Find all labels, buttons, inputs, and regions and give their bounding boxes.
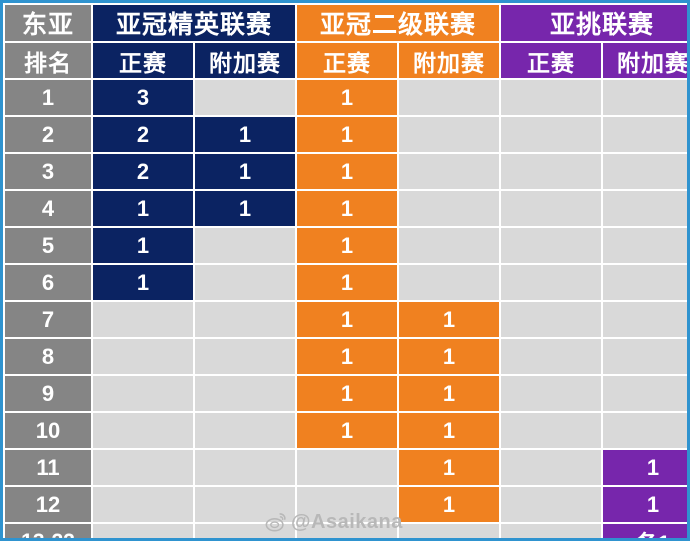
empty-cell xyxy=(399,117,499,152)
rank-cell: 12 xyxy=(5,487,91,522)
empty-cell xyxy=(297,487,397,522)
table-row: 3211 xyxy=(5,154,690,189)
subheader-elite-main: 正赛 xyxy=(93,43,193,78)
table-row: 911 xyxy=(5,376,690,411)
region-label: 东亚 xyxy=(5,5,91,41)
empty-cell xyxy=(93,413,193,448)
empty-cell xyxy=(501,524,601,541)
slot-value-cell: 1 xyxy=(603,450,690,485)
slot-value-cell: 2 xyxy=(93,117,193,152)
slot-allocation-table-frame: 东亚 亚冠精英联赛 亚冠二级联赛 亚挑联赛 排名 正赛 附加赛 正赛 附加赛 正… xyxy=(0,0,690,541)
rank-cell: 8 xyxy=(5,339,91,374)
empty-cell xyxy=(603,228,690,263)
slot-value-cell: 1 xyxy=(399,487,499,522)
slot-value-cell: 1 xyxy=(297,228,397,263)
table-row: 811 xyxy=(5,339,690,374)
slot-value-cell: 1 xyxy=(399,376,499,411)
slot-value-cell: 1 xyxy=(297,117,397,152)
slot-value-cell: 1 xyxy=(93,265,193,300)
empty-cell xyxy=(501,413,601,448)
table-row: 1011 xyxy=(5,413,690,448)
subheader-two-playoff: 附加赛 xyxy=(399,43,499,78)
empty-cell xyxy=(195,450,295,485)
subcolumn-header-row: 排名 正赛 附加赛 正赛 附加赛 正赛 附加赛 xyxy=(5,43,690,78)
empty-cell xyxy=(399,524,499,541)
subheader-challenge-playoff: 附加赛 xyxy=(603,43,690,78)
slot-value-cell: 1 xyxy=(603,487,690,522)
empty-cell xyxy=(603,413,690,448)
rank-cell: 9 xyxy=(5,376,91,411)
rank-cell: 4 xyxy=(5,191,91,226)
table-row: 511 xyxy=(5,228,690,263)
empty-cell xyxy=(195,487,295,522)
slot-value-cell: 1 xyxy=(399,302,499,337)
slot-value-cell: 1 xyxy=(297,265,397,300)
subheader-elite-playoff: 附加赛 xyxy=(195,43,295,78)
subheader-challenge-main: 正赛 xyxy=(501,43,601,78)
rank-cell: 7 xyxy=(5,302,91,337)
slot-value-cell: 1 xyxy=(297,80,397,115)
slot-value-cell: 1 xyxy=(297,302,397,337)
empty-cell xyxy=(501,154,601,189)
table-row: 711 xyxy=(5,302,690,337)
empty-cell xyxy=(399,191,499,226)
competition-title-two: 亚冠二级联赛 xyxy=(297,5,499,41)
empty-cell xyxy=(603,302,690,337)
empty-cell xyxy=(501,339,601,374)
empty-cell xyxy=(603,265,690,300)
empty-cell xyxy=(93,487,193,522)
rank-cell: 3 xyxy=(5,154,91,189)
rank-cell: 1 xyxy=(5,80,91,115)
empty-cell xyxy=(195,376,295,411)
slot-value-cell: 1 xyxy=(195,117,295,152)
rank-cell: 13-22 xyxy=(5,524,91,541)
empty-cell xyxy=(501,228,601,263)
empty-cell xyxy=(603,376,690,411)
empty-cell xyxy=(195,80,295,115)
slot-value-cell: 1 xyxy=(399,339,499,374)
rank-cell: 10 xyxy=(5,413,91,448)
empty-cell xyxy=(195,265,295,300)
empty-cell xyxy=(195,524,295,541)
slot-value-cell: 1 xyxy=(297,154,397,189)
slot-value-cell: 1 xyxy=(399,450,499,485)
rank-header: 排名 xyxy=(5,43,91,78)
empty-cell xyxy=(93,524,193,541)
subheader-two-main: 正赛 xyxy=(297,43,397,78)
empty-cell xyxy=(399,228,499,263)
table-row: 4111 xyxy=(5,191,690,226)
slot-value-cell: 1 xyxy=(93,228,193,263)
slot-value-cell: 3 xyxy=(93,80,193,115)
rank-cell: 11 xyxy=(5,450,91,485)
empty-cell xyxy=(195,228,295,263)
competition-title-elite: 亚冠精英联赛 xyxy=(93,5,295,41)
slot-value-cell: 1 xyxy=(297,376,397,411)
empty-cell xyxy=(399,80,499,115)
empty-cell xyxy=(501,302,601,337)
empty-cell xyxy=(93,339,193,374)
empty-cell xyxy=(93,302,193,337)
empty-cell xyxy=(297,524,397,541)
empty-cell xyxy=(501,191,601,226)
empty-cell xyxy=(195,413,295,448)
slot-value-cell: 1 xyxy=(399,413,499,448)
empty-cell xyxy=(195,302,295,337)
empty-cell xyxy=(399,154,499,189)
empty-cell xyxy=(501,117,601,152)
slot-value-cell: 1 xyxy=(297,191,397,226)
empty-cell xyxy=(501,376,601,411)
table-row: 1211 xyxy=(5,487,690,522)
table-row: 13-22各1 xyxy=(5,524,690,541)
empty-cell xyxy=(93,450,193,485)
slot-value-cell: 1 xyxy=(297,339,397,374)
empty-cell xyxy=(399,265,499,300)
rank-cell: 6 xyxy=(5,265,91,300)
competition-title-row: 东亚 亚冠精英联赛 亚冠二级联赛 亚挑联赛 xyxy=(5,5,690,41)
slot-allocation-table: 东亚 亚冠精英联赛 亚冠二级联赛 亚挑联赛 排名 正赛 附加赛 正赛 附加赛 正… xyxy=(3,3,690,541)
empty-cell xyxy=(603,154,690,189)
table-row: 611 xyxy=(5,265,690,300)
empty-cell xyxy=(501,487,601,522)
slot-value-cell: 1 xyxy=(297,413,397,448)
rank-cell: 2 xyxy=(5,117,91,152)
empty-cell xyxy=(195,339,295,374)
empty-cell xyxy=(603,117,690,152)
competition-title-challenge: 亚挑联赛 xyxy=(501,5,690,41)
empty-cell xyxy=(501,450,601,485)
table-row: 1111 xyxy=(5,450,690,485)
slot-value-cell: 1 xyxy=(195,154,295,189)
table-body: 东亚 亚冠精英联赛 亚冠二级联赛 亚挑联赛 排名 正赛 附加赛 正赛 附加赛 正… xyxy=(5,5,690,541)
table-row: 2211 xyxy=(5,117,690,152)
empty-cell xyxy=(297,450,397,485)
slot-value-cell: 各1 xyxy=(603,524,690,541)
empty-cell xyxy=(93,376,193,411)
empty-cell xyxy=(501,80,601,115)
table-row: 131 xyxy=(5,80,690,115)
rank-cell: 5 xyxy=(5,228,91,263)
empty-cell xyxy=(603,80,690,115)
empty-cell xyxy=(603,191,690,226)
empty-cell xyxy=(603,339,690,374)
slot-value-cell: 1 xyxy=(195,191,295,226)
slot-value-cell: 1 xyxy=(93,191,193,226)
empty-cell xyxy=(501,265,601,300)
slot-value-cell: 2 xyxy=(93,154,193,189)
